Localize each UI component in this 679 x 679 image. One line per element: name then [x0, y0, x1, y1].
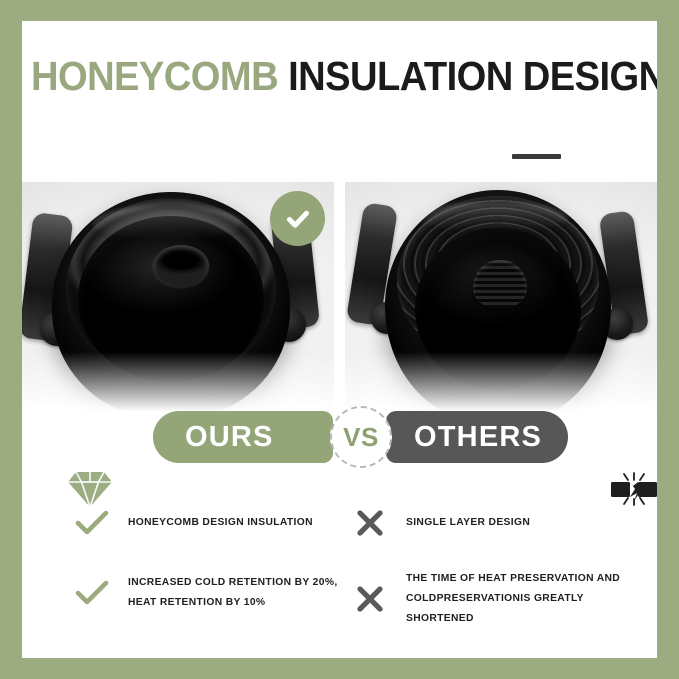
- pot-vent-hole: [153, 245, 209, 287]
- feature-text: SINGLE LAYER DESIGN: [390, 513, 530, 533]
- feature-line-2: HEAT RETENTION BY 10%: [128, 593, 338, 613]
- cross-icon: [350, 505, 390, 541]
- check-icon: [283, 204, 313, 234]
- feature-list-others: SINGLE LAYER DESIGN THE TIME OF HEAT PRE…: [350, 499, 640, 651]
- feature-item: INCREASED COLD RETENTION BY 20%, HEAT RE…: [72, 569, 362, 617]
- poster-frame: HONEYCOMB INSULATION DESIGN: [0, 0, 679, 679]
- others-pill: OTHERS: [386, 411, 568, 463]
- feature-line-1: SINGLE LAYER DESIGN: [406, 517, 530, 528]
- feature-item: THE TIME OF HEAT PRESERVATION AND COLDPR…: [350, 569, 640, 629]
- feature-list-ours: HONEYCOMB DESIGN INSULATION INCREASED CO…: [72, 499, 362, 639]
- pot-center-knob: [473, 260, 527, 308]
- product-photo-ours: [22, 182, 334, 425]
- feature-item: HONEYCOMB DESIGN INSULATION: [72, 499, 362, 547]
- cross-icon: [350, 581, 390, 617]
- ours-pill: OURS: [153, 411, 333, 463]
- product-photo-others: [345, 182, 657, 425]
- page-title: HONEYCOMB INSULATION DESIGN: [31, 48, 612, 104]
- feature-text: INCREASED COLD RETENTION BY 20%, HEAT RE…: [112, 573, 338, 613]
- check-icon: [72, 505, 112, 541]
- pot-highlight: [92, 206, 242, 240]
- vs-label: VS: [343, 422, 379, 453]
- ours-label: OURS: [185, 421, 274, 454]
- divider-dash: [512, 154, 561, 159]
- verdict-badge-ours: [270, 191, 325, 246]
- others-label: OTHERS: [414, 421, 542, 454]
- feature-item: SINGLE LAYER DESIGN: [350, 499, 640, 547]
- feature-line-1: INCREASED COLD RETENTION BY 20%,: [128, 577, 338, 588]
- feature-text: HONEYCOMB DESIGN INSULATION: [112, 513, 313, 533]
- poster-canvas: HONEYCOMB INSULATION DESIGN: [22, 21, 657, 658]
- title-highlight: HONEYCOMB: [31, 53, 278, 99]
- title-rest: INSULATION DESIGN: [278, 53, 657, 99]
- comparison-bar: OURS OTHERS VS: [22, 411, 657, 469]
- check-icon: [72, 575, 112, 611]
- feature-line-2: COLDPRESERVATIONIS GREATLY SHORTENED: [406, 589, 640, 629]
- feature-text: THE TIME OF HEAT PRESERVATION AND COLDPR…: [390, 569, 640, 629]
- pot-highlight: [419, 202, 569, 232]
- vs-badge: VS: [330, 406, 392, 468]
- feature-line-1: HONEYCOMB DESIGN INSULATION: [128, 517, 313, 528]
- feature-line-1: THE TIME OF HEAT PRESERVATION AND: [406, 573, 620, 584]
